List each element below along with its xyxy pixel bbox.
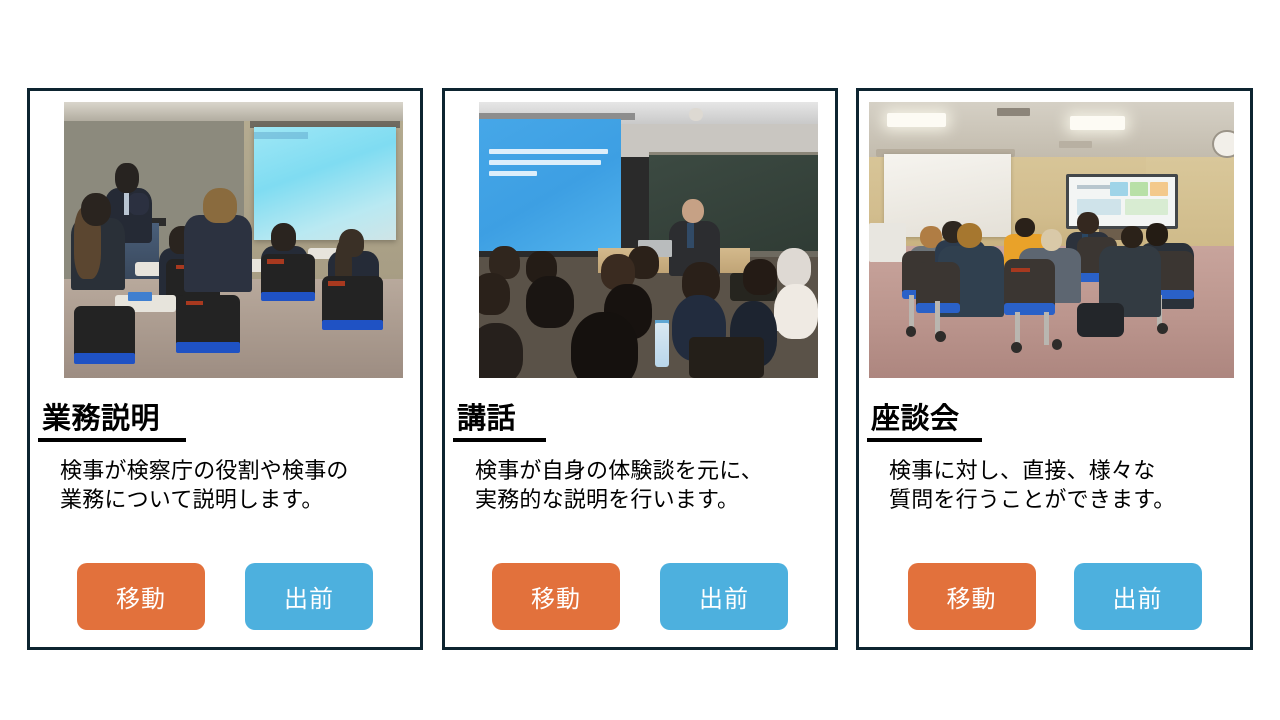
move-button[interactable]: 移動	[77, 563, 205, 630]
card-board: 業務説明 検事が検察庁の役割や検事の 業務について説明します。 移動 出前	[0, 0, 1280, 720]
card-button-row: 移動 出前	[30, 563, 420, 630]
delivery-button[interactable]: 出前	[1074, 563, 1202, 630]
briefing-room-photo	[64, 102, 403, 378]
delivery-button[interactable]: 出前	[245, 563, 373, 630]
card-button-row: 移動 出前	[445, 563, 835, 630]
program-card-gyomu-setsumei[interactable]: 業務説明 検事が検察庁の役割や検事の 業務について説明します。 移動 出前	[27, 88, 423, 650]
card-description: 検事が自身の体験談を元に、 実務的な説明を行います。	[475, 456, 825, 515]
move-button[interactable]: 移動	[492, 563, 620, 630]
program-card-kouwa[interactable]: 講話 検事が自身の体験談を元に、 実務的な説明を行います。 移動 出前	[442, 88, 838, 650]
card-heading: 業務説明	[38, 404, 186, 442]
program-card-zadankai[interactable]: 座談会 検事に対し、直接、様々な 質問を行うことができます。 移動 出前	[856, 88, 1253, 650]
card-description: 検事が検察庁の役割や検事の 業務について説明します。	[60, 456, 410, 515]
card-heading-wrap: 講話	[453, 404, 546, 442]
move-button[interactable]: 移動	[908, 563, 1036, 630]
projector-screen-icon	[254, 127, 396, 240]
card-heading-wrap: 座談会	[867, 404, 982, 442]
backpack-icon	[1077, 303, 1124, 336]
delivery-button[interactable]: 出前	[660, 563, 788, 630]
card-heading-wrap: 業務説明	[38, 404, 186, 442]
ceiling-light-icon	[887, 113, 945, 127]
ceiling-light-icon	[1070, 116, 1125, 130]
lecture-hall-photo	[479, 102, 818, 378]
projector-slide-icon	[479, 119, 621, 251]
roundtable-discussion-photo	[869, 102, 1234, 378]
card-heading: 講話	[453, 404, 546, 442]
card-heading: 座談会	[867, 404, 982, 442]
briefing-room-illustration	[64, 102, 403, 378]
card-button-row: 移動 出前	[859, 563, 1250, 630]
roundtable-illustration	[869, 102, 1234, 378]
camera-icon	[689, 108, 703, 122]
card-description: 検事に対し、直接、様々な 質問を行うことができます。	[889, 456, 1239, 515]
water-bottle-icon	[655, 323, 669, 367]
lecture-hall-illustration	[479, 102, 818, 378]
